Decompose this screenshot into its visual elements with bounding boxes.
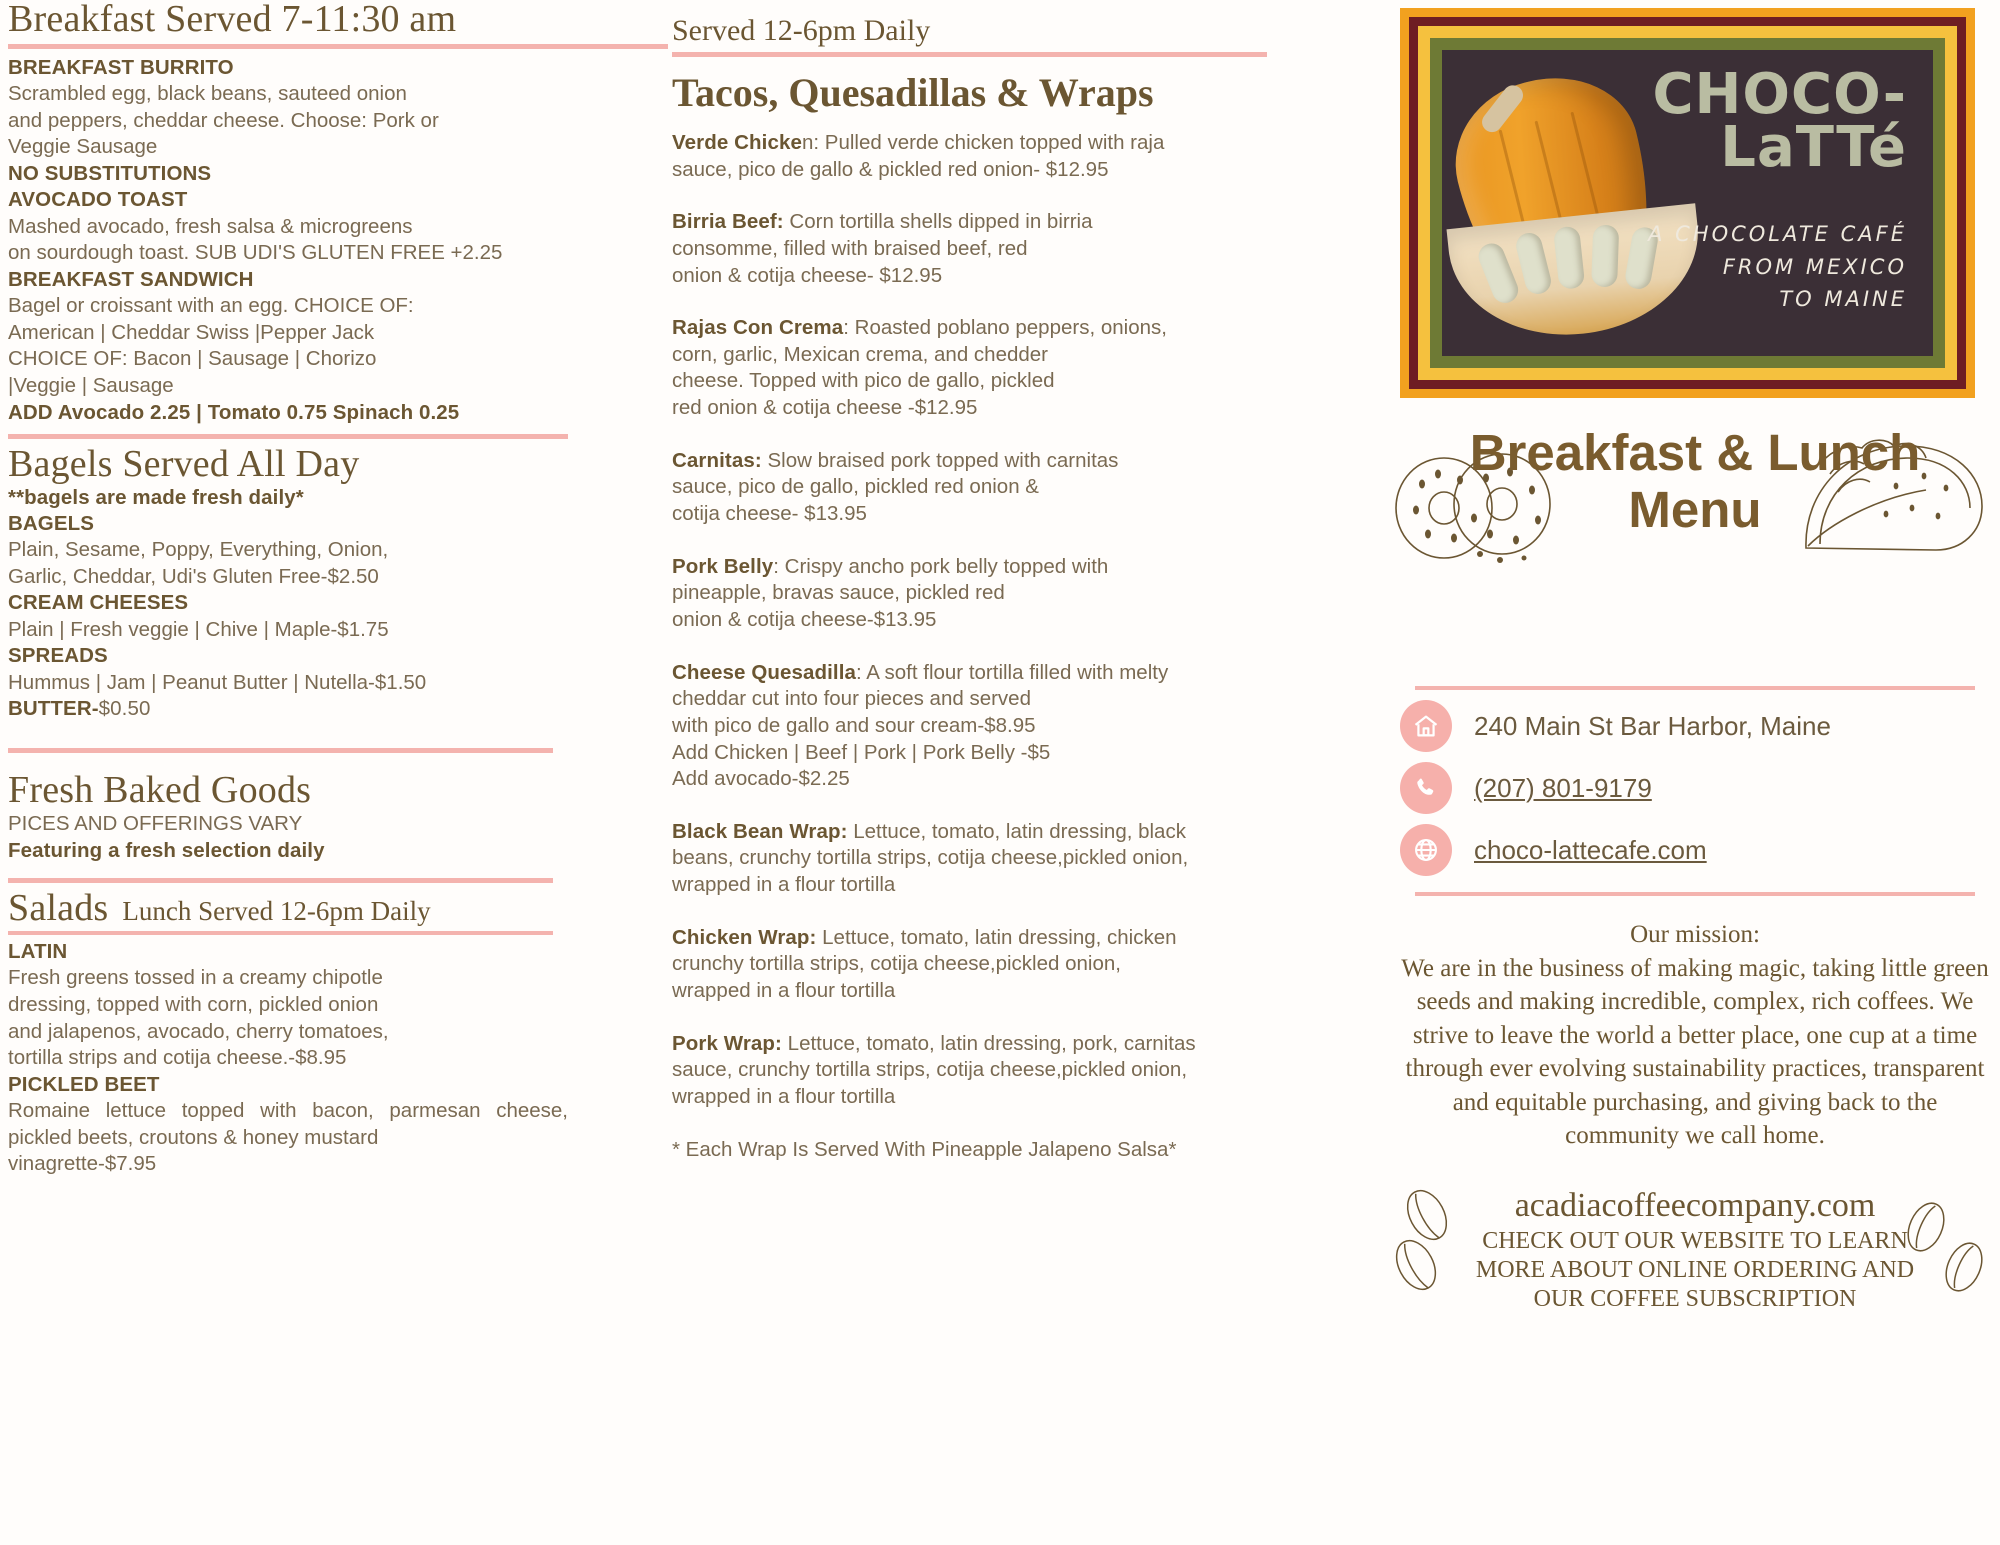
item-name-breakfast-burrito: BREAKFAST BURRITO xyxy=(8,55,668,81)
item-name-no-substitutions: NO SUBSTITUTIONS xyxy=(8,161,668,187)
logo-tagline-line2: FROM MEXICO xyxy=(1577,251,1907,284)
item-desc-line: and jalapenos, avocado, cherry tomatoes, xyxy=(8,1019,668,1046)
item-desc-line: onion & cotija cheese- $12.95 xyxy=(672,263,1292,290)
globe-icon xyxy=(1400,824,1452,876)
item-desc-line: dressing, topped with corn, pickled onio… xyxy=(8,992,668,1019)
contact-phone[interactable]: (207) 801-9179 xyxy=(1474,773,1652,804)
contact-block: 240 Main St Bar Harbor, Maine (207) 801-… xyxy=(1400,700,1990,876)
lunch-item-cheese-quesadilla: Cheese Quesadilla: A soft flour tortilla… xyxy=(672,660,1292,793)
item-desc-line: sauce, pico de gallo & pickled red onion… xyxy=(672,157,1292,184)
mission-body: We are in the business of making magic, … xyxy=(1400,952,1990,1153)
lunch-footnote: * Each Wrap Is Served With Pineapple Jal… xyxy=(672,1137,1292,1164)
item-desc-line: |Veggie | Sausage xyxy=(8,373,668,400)
item-desc-line: Veggie Sausage xyxy=(8,134,668,161)
item-desc-line: A soft flour tortilla filled with melty xyxy=(862,661,1168,684)
item-desc-line: Bagel or croissant with an egg. CHOICE O… xyxy=(8,293,668,320)
lunch-item-pork-wrap: Pork Wrap: Lettuce, tomato, latin dressi… xyxy=(672,1031,1292,1111)
contact-address-row: 240 Main St Bar Harbor, Maine xyxy=(1400,700,1990,752)
item-desc-line: CHOICE OF: Bacon | Sausage | Chorizo xyxy=(8,346,668,373)
item-desc-line: Lettuce, tomato, latin dressing, chicken xyxy=(816,926,1176,949)
baked-featuring: Featuring a fresh selection daily xyxy=(8,838,668,864)
item-addon-line: Add avocado-$2.25 xyxy=(672,766,1292,793)
item-desc-line: crunchy tortilla strips, cotija cheese,p… xyxy=(672,951,1292,978)
item-desc-line: beans, crunchy tortilla strips, cotija c… xyxy=(672,845,1292,872)
lunch-item-carnitas: Carnitas: Slow braised pork topped with … xyxy=(672,448,1292,528)
divider-breakfast xyxy=(8,44,668,49)
lunch-item-birria-beef: Birria Beef: Corn tortilla shells dipped… xyxy=(672,209,1292,289)
lunch-item-rajas-con-crema: Rajas Con Crema: Roasted poblano peppers… xyxy=(672,315,1292,422)
salads-section-title: Salads xyxy=(8,889,108,929)
contact-website[interactable]: choco-lattecafe.com xyxy=(1474,835,1707,866)
item-desc-line: onion & cotija cheese-$13.95 xyxy=(672,607,1292,634)
item-desc-line: Corn tortilla shells dipped in birria xyxy=(784,210,1093,233)
item-desc-line: consomme, filled with braised beef, red xyxy=(672,236,1292,263)
contact-website-row[interactable]: choco-lattecafe.com xyxy=(1400,824,1990,876)
item-desc-line: on sourdough toast. SUB UDI'S GLUTEN FRE… xyxy=(8,240,668,267)
page-title: Breakfast & Lunch Menu xyxy=(1400,424,1990,538)
lunch-item-chicken-wrap: Chicken Wrap: Lettuce, tomato, latin dre… xyxy=(672,925,1292,1005)
choco-latte-logo: CHOCO- LaTTé A CHOCOLATE CAFÉ FROM MEXIC… xyxy=(1400,8,1975,398)
item-name-latin-salad: LATIN xyxy=(8,939,668,965)
home-icon xyxy=(1400,700,1452,752)
item-desc-line: Slow braised pork topped with carnitas xyxy=(762,449,1119,472)
item-desc-line: red onion & cotija cheese -$12.95 xyxy=(672,395,1292,422)
bagels-note: **bagels are made fresh daily* xyxy=(8,485,668,511)
logo-wordmark-line2: LaTTé xyxy=(1577,121,1907,174)
item-name: Verde Chicke xyxy=(672,131,802,154)
item-desc-line: sauce, crunchy tortilla strips, cotija c… xyxy=(672,1057,1292,1084)
divider-salads xyxy=(8,878,553,883)
divider-baked xyxy=(8,748,553,753)
item-name: Cheese Quesadilla xyxy=(672,661,856,684)
logo-inner-panel: CHOCO- LaTTé A CHOCOLATE CAFÉ FROM MEXIC… xyxy=(1442,50,1933,356)
item-desc-line: Lettuce, tomato, latin dressing, black xyxy=(848,820,1186,843)
divider-lunch xyxy=(672,52,1267,57)
menu-page: Breakfast Served 7-11:30 am BREAKFAST BU… xyxy=(0,0,2000,1545)
logo-wordmark-line1: CHOCO- xyxy=(1577,68,1907,121)
divider-bagels xyxy=(8,434,568,439)
item-desc-line: sauce, pico de gallo, pickled red onion … xyxy=(672,474,1292,501)
logo-wordmark: CHOCO- LaTTé xyxy=(1577,68,1907,174)
item-desc-line: Pulled verde chicken topped with raja xyxy=(819,131,1164,154)
item-desc-line: Scrambled egg, black beans, sauteed onio… xyxy=(8,81,668,108)
mission-heading: Our mission: xyxy=(1400,918,1990,952)
item-name-bagels: BAGELS xyxy=(8,511,668,537)
item-name-cream-cheeses: CREAM CHEESES xyxy=(8,590,668,616)
item-desc-line: and peppers, cheddar cheese. Choose: Por… xyxy=(8,108,668,135)
contact-address: 240 Main St Bar Harbor, Maine xyxy=(1474,711,1831,742)
item-desc-justified: Romaine lettuce topped with bacon, parme… xyxy=(8,1098,568,1151)
item-desc-line: wrapped in a flour tortilla xyxy=(672,872,1292,899)
mission-block: Our mission: We are in the business of m… xyxy=(1400,918,1990,1153)
phone-icon xyxy=(1400,762,1452,814)
logo-tagline: A CHOCOLATE CAFÉ FROM MEXICO TO MAINE xyxy=(1577,218,1907,316)
left-column: Breakfast Served 7-11:30 am BREAKFAST BU… xyxy=(8,0,668,1178)
item-desc-line: with pico de gallo and sour cream-$8.95 xyxy=(672,713,1292,740)
item-name: Birria Beef: xyxy=(672,210,784,233)
item-desc-line: Roasted poblano peppers, onions, xyxy=(849,316,1167,339)
item-name-butter: BUTTER-$0.50 xyxy=(8,696,668,722)
item-desc-line: corn, garlic, Mexican crema, and chedder xyxy=(672,342,1292,369)
breakfast-section-title: Breakfast Served 7-11:30 am xyxy=(8,0,668,40)
item-name: Pork Belly xyxy=(672,555,773,578)
item-name-avocado-toast: AVOCADO TOAST xyxy=(8,187,668,213)
item-desc-line: wrapped in a flour tortilla xyxy=(672,978,1292,1005)
item-name-tail: n: xyxy=(802,131,819,154)
item-name: Black Bean Wrap: xyxy=(672,820,848,843)
item-addon-line: Add Chicken | Beef | Pork | Pork Belly -… xyxy=(672,740,1292,767)
salads-header: Salads Lunch Served 12-6pm Daily xyxy=(8,889,668,929)
butter-price: $0.50 xyxy=(99,697,151,720)
item-desc-line: vinagrette-$7.95 xyxy=(8,1151,668,1178)
lunch-served-note: Served 12-6pm Daily xyxy=(672,14,1292,48)
divider-salads-under xyxy=(8,931,553,935)
item-name-pickled-beet-salad: PICKLED BEET xyxy=(8,1072,668,1098)
item-desc-line: cheese. Topped with pico de gallo, pickl… xyxy=(672,368,1292,395)
item-name-spreads: SPREADS xyxy=(8,643,668,669)
item-addons-breakfast: ADD Avocado 2.25 | Tomato 0.75 Spinach 0… xyxy=(8,400,668,426)
item-name: Carnitas: xyxy=(672,449,762,472)
item-desc-line: tortilla strips and cotija cheese.-$8.95 xyxy=(8,1045,668,1072)
item-name: Rajas Con Crema xyxy=(672,316,843,339)
butter-label: BUTTER- xyxy=(8,697,99,720)
item-desc-line: Mashed avocado, fresh salsa & microgreen… xyxy=(8,214,668,241)
divider-mission xyxy=(1415,892,1975,896)
logo-tagline-line3: TO MAINE xyxy=(1577,283,1907,316)
item-desc-line: Lettuce, tomato, latin dressing, pork, c… xyxy=(782,1032,1196,1055)
item-desc-line: Fresh greens tossed in a creamy chipotle xyxy=(8,965,668,992)
item-desc-line: American | Cheddar Swiss |Pepper Jack xyxy=(8,320,668,347)
item-name: Chicken Wrap: xyxy=(672,926,816,949)
item-name-breakfast-sandwich: BREAKFAST SANDWICH xyxy=(8,267,668,293)
baked-section-title: Fresh Baked Goods xyxy=(8,771,668,811)
logo-tagline-line1: A CHOCOLATE CAFÉ xyxy=(1577,218,1907,251)
coffee-beans-icon xyxy=(1382,1185,1502,1305)
right-column: CHOCO- LaTTé A CHOCOLATE CAFÉ FROM MEXIC… xyxy=(1400,0,1990,1315)
item-desc-line: Plain | Fresh veggie | Chive | Maple-$1.… xyxy=(8,617,668,644)
item-desc-line: pineapple, bravas sauce, pickled red xyxy=(672,580,1292,607)
contact-phone-row[interactable]: (207) 801-9179 xyxy=(1400,762,1990,814)
bagels-section-title: Bagels Served All Day xyxy=(8,445,668,485)
item-desc-line: Garlic, Cheddar, Udi's Gluten Free-$2.50 xyxy=(8,564,668,591)
middle-column: Served 12-6pm Daily Tacos, Quesadillas &… xyxy=(672,0,1292,1163)
item-desc-line: cotija cheese- $13.95 xyxy=(672,501,1292,528)
lunch-item-verde-chicken: Verde Chicken: Pulled verde chicken topp… xyxy=(672,130,1292,183)
breakfast-items: BREAKFAST BURRITO Scrambled egg, black b… xyxy=(8,55,668,426)
baked-note: PICES AND OFFERINGS VARY xyxy=(8,811,668,838)
item-desc-line: cheddar cut into four pieces and served xyxy=(672,686,1292,713)
coffee-beans-icon xyxy=(1884,1185,2000,1305)
divider-contact xyxy=(1415,686,1975,690)
item-desc-line: wrapped in a flour tortilla xyxy=(672,1084,1292,1111)
item-name: Pork Wrap: xyxy=(672,1032,782,1055)
item-desc-line: Plain, Sesame, Poppy, Everything, Onion, xyxy=(8,537,668,564)
lunch-section-title: Tacos, Quesadillas & Wraps xyxy=(672,69,1292,116)
lunch-item-pork-belly: Pork Belly: Crispy ancho pork belly topp… xyxy=(672,554,1292,634)
lunch-item-black-bean-wrap: Black Bean Wrap: Lettuce, tomato, latin … xyxy=(672,819,1292,899)
salads-subtitle: Lunch Served 12-6pm Daily xyxy=(122,896,430,927)
item-desc-line: Hummus | Jam | Peanut Butter | Nutella-$… xyxy=(8,670,668,697)
item-desc-line: Crispy ancho pork belly topped with xyxy=(779,555,1108,578)
